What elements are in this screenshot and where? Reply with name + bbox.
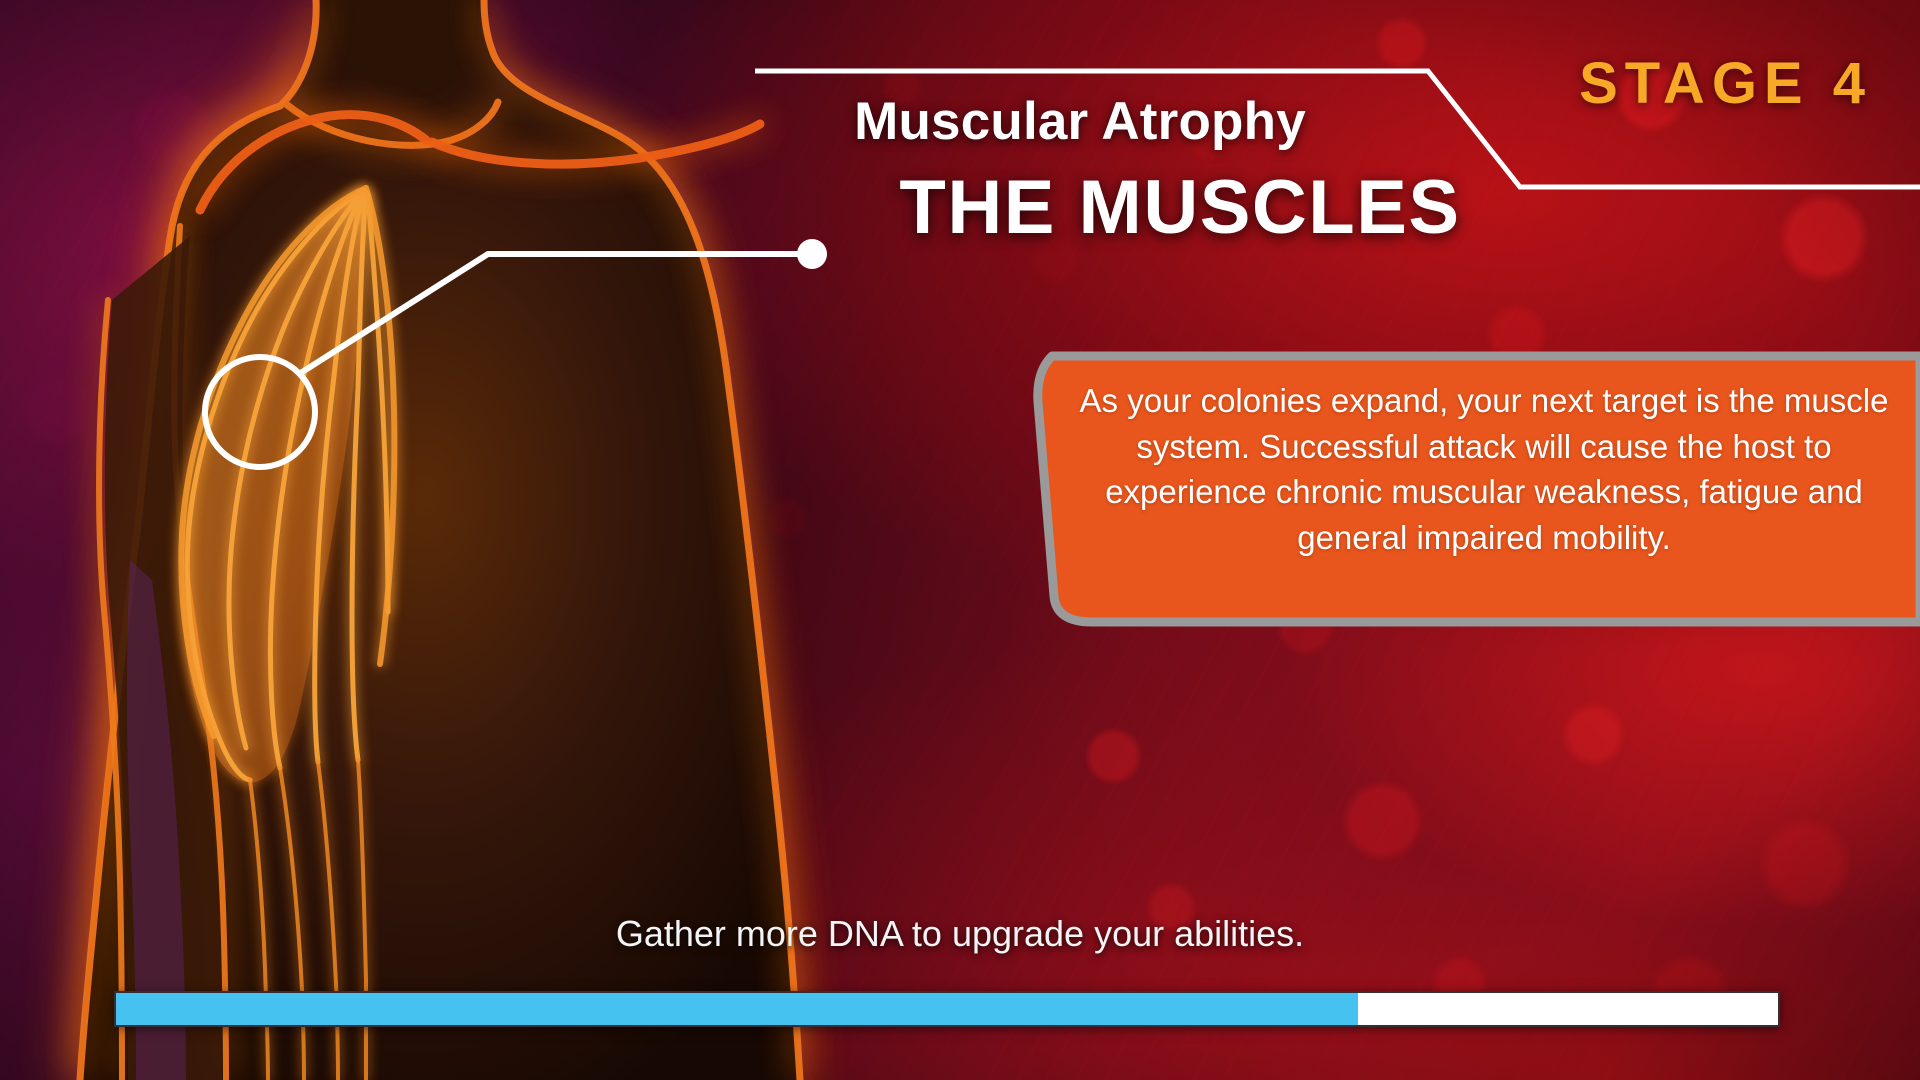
dna-progress-fill <box>116 993 1358 1025</box>
stage-subtitle: Muscular Atrophy <box>760 91 1400 152</box>
footer-hint-text: Gather more DNA to upgrade your abilitie… <box>0 913 1920 955</box>
description-text: As your colonies expand, your next targe… <box>1074 378 1894 560</box>
plague-stage-screen: Muscular Atrophy THE MUSCLES STAGE 4 As … <box>0 0 1920 1080</box>
description-callout: As your colonies expand, your next targe… <box>1030 344 1920 634</box>
page-title: THE MUSCLES <box>860 170 1500 246</box>
callout-endpoint-dot <box>797 239 827 269</box>
stage-badge: STAGE 4 <box>1579 50 1872 117</box>
dna-progress-bar[interactable] <box>114 991 1780 1027</box>
